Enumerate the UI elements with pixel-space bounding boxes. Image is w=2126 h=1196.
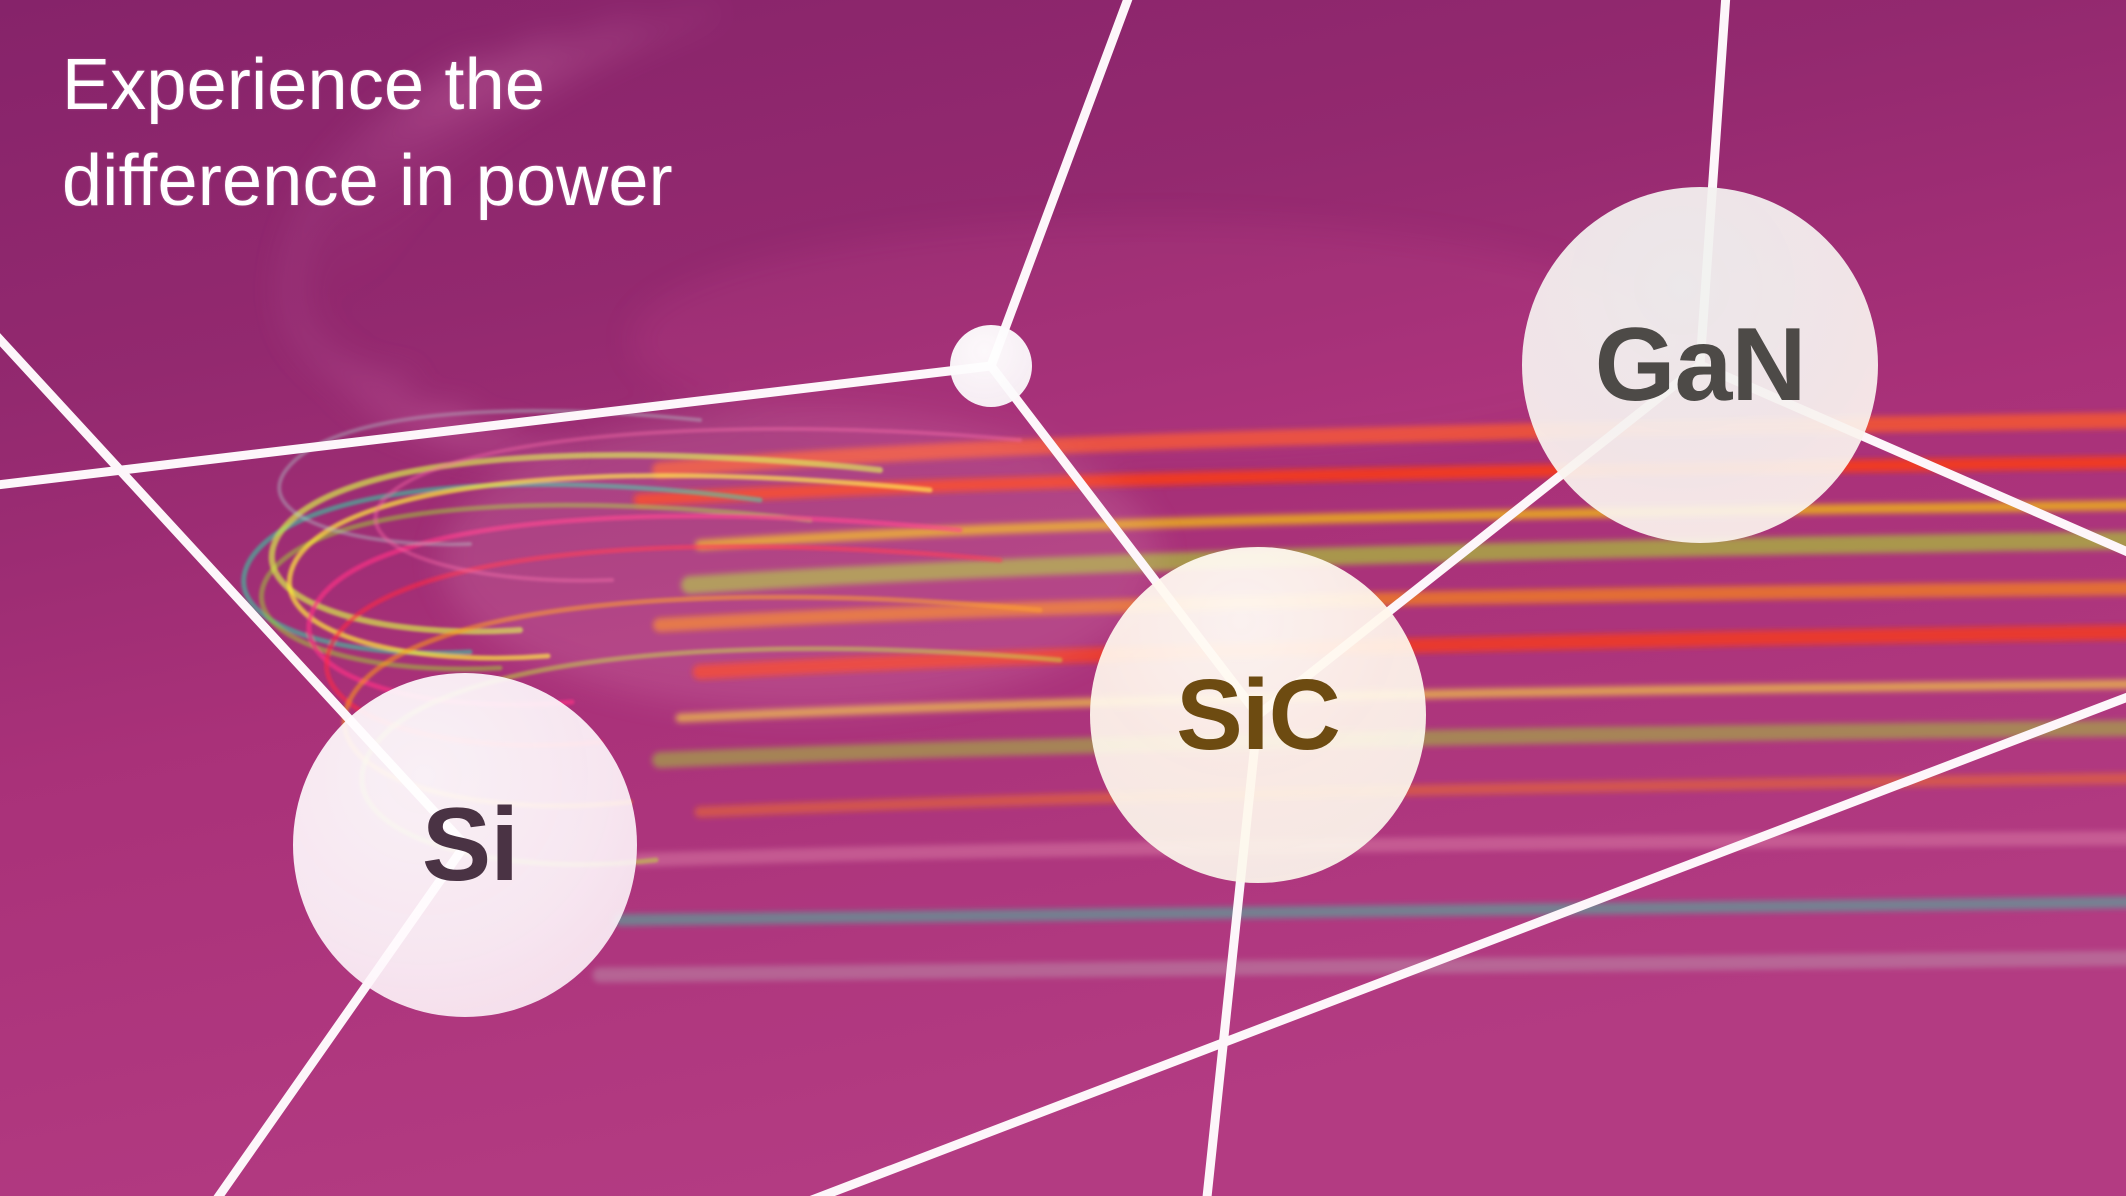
node-si[interactable]: Si <box>293 673 637 1017</box>
connector-lines <box>0 0 2126 1196</box>
node-gan[interactable]: GaN <box>1522 187 1878 543</box>
hero-banner: Experience the difference in power Si Si… <box>0 0 2126 1196</box>
connector-dot-to-top-right <box>991 0 1135 366</box>
connector-bottom-right-diag <box>770 690 2126 1196</box>
node-sic-label: SiC <box>1176 665 1340 765</box>
node-si-label: Si <box>422 793 518 897</box>
node-sic[interactable]: SiC <box>1090 547 1426 883</box>
node-gan-label: GaN <box>1595 313 1806 417</box>
connector-line-group <box>0 0 2126 1196</box>
connector-dot-to-left-edge <box>0 366 991 487</box>
node-junction-dot[interactable] <box>950 325 1032 407</box>
